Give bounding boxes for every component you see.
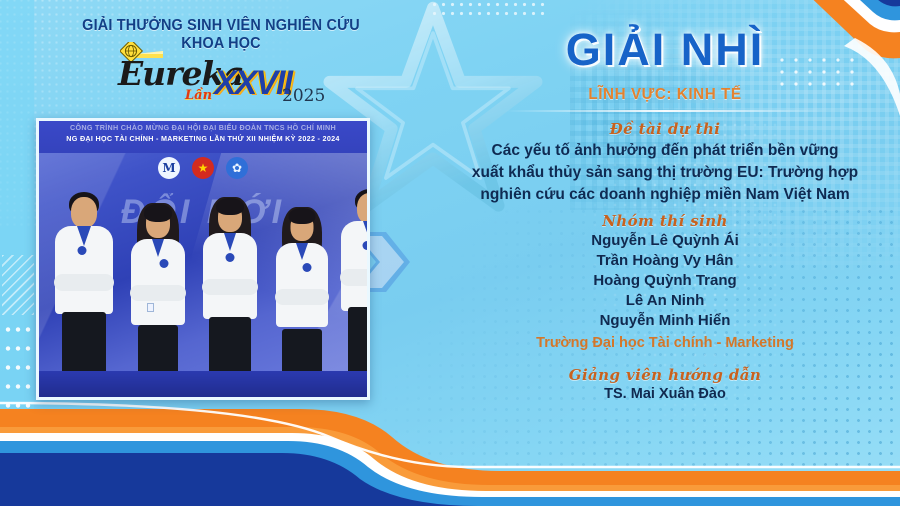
photo-org-logos: M ★ ✿ bbox=[39, 157, 367, 179]
photo-banner-line-2: NG ĐẠI HỌC TÀI CHÍNH - MARKETING LẦN THỨ… bbox=[36, 133, 370, 144]
student-figure bbox=[127, 199, 189, 397]
topic-line: xuất khẩu thủy sản sang thị trường EU: T… bbox=[452, 162, 878, 184]
team-photo: ĐỔI MỚI CÔNG TRÌNH CHÀO MỪNG ĐẠI HỘI ĐẠI… bbox=[36, 118, 370, 400]
student-association-icon: ✿ bbox=[226, 157, 248, 179]
student-figure bbox=[199, 195, 261, 397]
team-member-list: Nguyễn Lê Quỳnh Ái Trần Hoàng Vy Hân Hoà… bbox=[430, 231, 900, 331]
students-group bbox=[39, 187, 367, 397]
eureka-logo: Eureka Lần XXVII 2025 bbox=[110, 44, 325, 106]
team-member: Lê An Ninh bbox=[430, 291, 900, 311]
award-info-panel: GIẢI NHÌ LĨNH VỰC: KINH TẾ Đề tài dự thi… bbox=[430, 0, 900, 506]
advisor-label: Giảng viên hướng dẫn bbox=[430, 366, 900, 384]
diagonal-stripes-decor bbox=[2, 255, 34, 315]
award-title: GIẢI NHÌ bbox=[430, 24, 900, 76]
eureka-edition-number: XXVII bbox=[214, 64, 291, 103]
topic-line: nghiên cứu các doanh nghiệp miền Nam Việ… bbox=[452, 184, 878, 206]
team-label: Nhóm thí sinh bbox=[430, 212, 900, 230]
team-member: Trần Hoàng Vy Hân bbox=[430, 251, 900, 271]
university-logo-icon: M bbox=[158, 157, 180, 179]
youth-union-flag-icon: ★ bbox=[192, 157, 214, 179]
photo-banner-line-1: CÔNG TRÌNH CHÀO MỪNG ĐẠI HỘI ĐẠI BIỂU ĐO… bbox=[36, 122, 370, 133]
student-figure bbox=[339, 189, 370, 397]
student-figure bbox=[53, 192, 115, 397]
left-edge-panel bbox=[0, 0, 34, 506]
eureka-year: 2025 bbox=[282, 86, 325, 106]
topic-line: Các yếu tố ảnh hưởng đến phát triển bền … bbox=[452, 140, 878, 162]
topic-title: Các yếu tố ảnh hưởng đến phát triển bền … bbox=[452, 140, 878, 206]
award-field: LĨNH VỰC: KINH TẾ bbox=[442, 86, 889, 104]
divider bbox=[505, 110, 825, 112]
team-member: Hoàng Quỳnh Trang bbox=[430, 271, 900, 291]
topic-label: Đề tài dự thi bbox=[430, 120, 900, 138]
eureka-edition-label: Lần bbox=[185, 88, 212, 103]
student-figure bbox=[271, 201, 333, 397]
team-member: Nguyễn Lê Quỳnh Ái bbox=[430, 231, 900, 251]
team-member: Nguyễn Minh Hiển bbox=[430, 311, 900, 331]
school-name: Trường Đại học Tài chính - Marketing bbox=[430, 335, 900, 351]
photo-banner: CÔNG TRÌNH CHÀO MỪNG ĐẠI HỘI ĐẠI BIỂU ĐO… bbox=[36, 119, 370, 153]
dot-grid-decor bbox=[3, 320, 31, 440]
advisor-name: TS. Mai Xuân Đào bbox=[430, 386, 900, 402]
photo-floor bbox=[39, 371, 367, 397]
award-slide: GIẢI THƯỞNG SINH VIÊN NGHIÊN CỨU KHOA HỌ… bbox=[0, 0, 900, 506]
